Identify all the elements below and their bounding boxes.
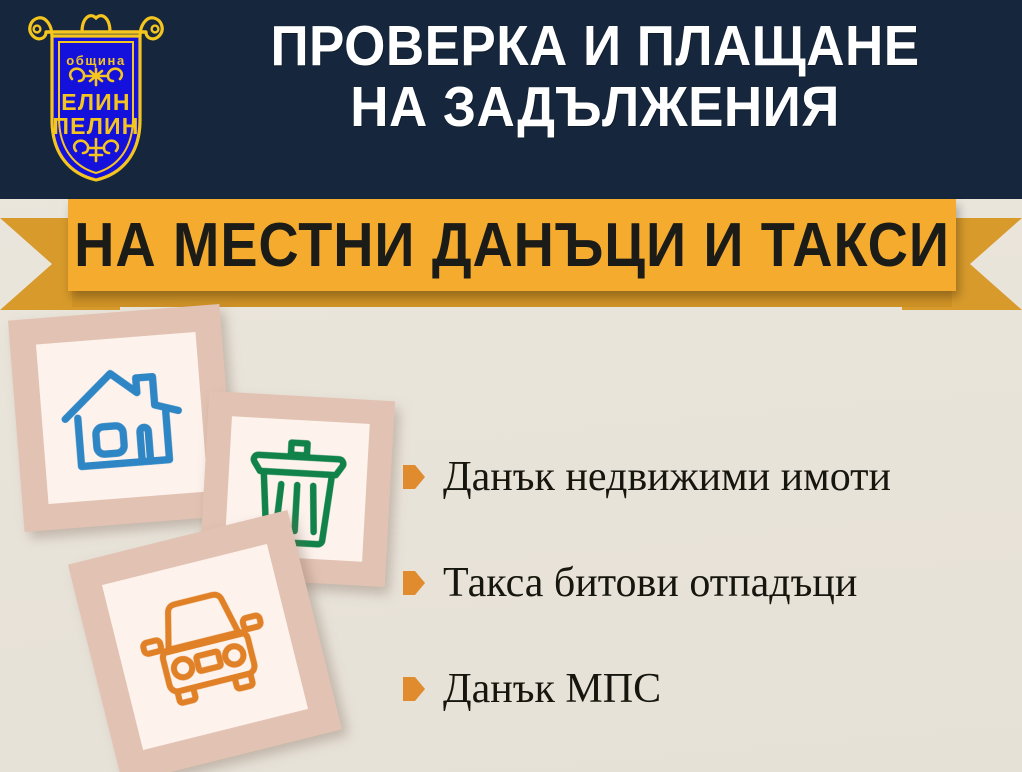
house-icon (55, 355, 190, 481)
list-item-label: Данък МПС (443, 668, 661, 710)
bullet-arrow-icon (403, 677, 425, 701)
bullet-arrow-icon (403, 465, 425, 489)
list-item[interactable]: Данък недвижими имоти (403, 424, 1015, 530)
car-front-icon (127, 576, 283, 719)
tax-type-list: Данък недвижими имоти Такса битови отпад… (403, 424, 1015, 742)
svg-text:ЕЛИН: ЕЛИН (61, 89, 130, 115)
elin-pelin-crest-icon: община ЕЛИН ПЕЛИН (22, 8, 170, 190)
svg-text:община: община (66, 53, 126, 68)
ribbon-label: НА МЕСТНИ ДАНЪЦИ И ТАКСИ (112, 199, 911, 291)
stamp-inner-house (36, 332, 208, 504)
ribbon-banner: НА МЕСТНИ ДАНЪЦИ И ТАКСИ (0, 199, 1022, 317)
list-item[interactable]: Такса битови отпадъци (403, 530, 1015, 636)
poster-canvas: община ЕЛИН ПЕЛИН ПРОВЕРКА И ПЛАЩАНЕ НА … (0, 0, 1022, 772)
list-item-label: Данък недвижими имоти (443, 456, 891, 498)
page-title-line-2: НА ЗАДЪЛЖЕНИЯ (214, 77, 977, 138)
list-item-label: Такса битови отпадъци (443, 562, 857, 604)
page-title: ПРОВЕРКА И ПЛАЩАНЕ НА ЗАДЪЛЖЕНИЯ (214, 16, 977, 138)
bullet-arrow-icon (403, 571, 425, 595)
svg-text:ПЕЛИН: ПЕЛИН (52, 113, 139, 139)
page-title-line-1: ПРОВЕРКА И ПЛАЩАНЕ (270, 14, 919, 78)
list-item[interactable]: Данък МПС (403, 636, 1015, 742)
stamp-card-house (8, 304, 236, 532)
